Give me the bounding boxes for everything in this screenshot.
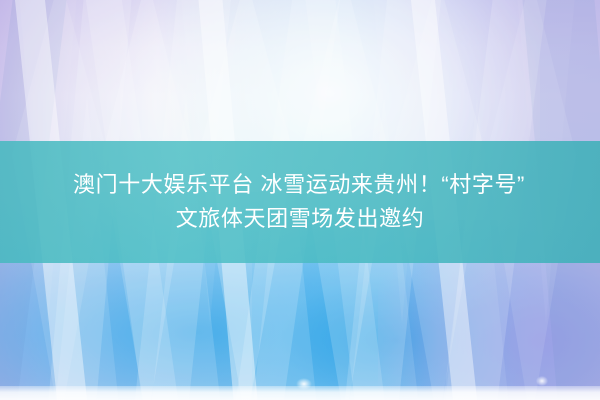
headline-band: 澳门十大娱乐平台 冰雪运动来贵州！“村字号” 文旅体天团雪场发出邀约 xyxy=(0,141,600,263)
article-banner: 澳门十大娱乐平台 冰雪运动来贵州！“村字号” 文旅体天团雪场发出邀约 xyxy=(0,0,600,400)
headline-line-1: 澳门十大娱乐平台 冰雪运动来贵州！“村字号” xyxy=(73,168,527,202)
sparkle-icon xyxy=(296,378,312,390)
sparkle-icon xyxy=(536,376,548,386)
headline-line-2: 文旅体天团雪场发出邀约 xyxy=(176,202,425,236)
